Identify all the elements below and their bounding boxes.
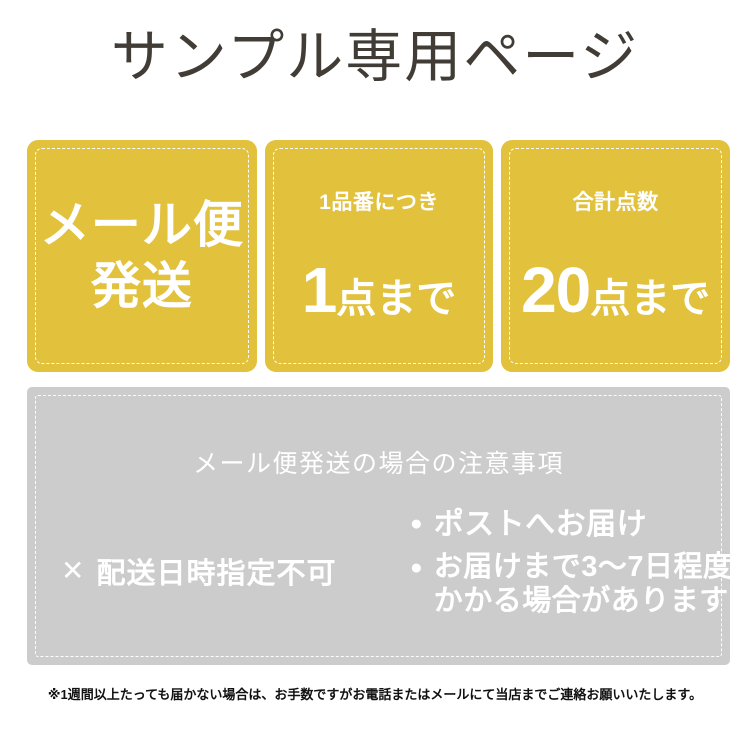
card-shipping-method-content: メール便 発送: [27, 140, 257, 372]
notice-bullet-item: ● ポストへお届け: [410, 507, 732, 542]
card-per-item-limit-figure: 1点まで: [265, 258, 494, 322]
card-per-item-limit-number: 1: [302, 254, 337, 326]
card-per-item-limit-caption: 1品番につき: [265, 186, 494, 216]
card-total-limit-content: 合計点数 20点まで: [501, 140, 730, 372]
footnote-text: ※1週間以上たっても届かない場合は、お手数ですがお電話またはメールにて当店までご…: [0, 684, 750, 703]
card-total-limit-figure: 20点まで: [501, 258, 730, 322]
notice-panel: メール便発送の場合の注意事項 ✕ 配送日時指定不可 ● ポストへお届け ●: [27, 387, 730, 665]
card-total-limit-number: 20: [521, 254, 590, 326]
notice-bullet-item: ● お届けまで3〜7日程度 かかる場合があります: [410, 551, 732, 619]
card-per-item-limit-unit: 点まで: [336, 277, 456, 321]
notice-bullet-text: お届けまで3〜7日程度 かかる場合があります: [434, 551, 733, 619]
notice-restriction-item: ✕ 配送日時指定不可: [61, 550, 336, 592]
card-shipping-method: メール便 発送: [27, 140, 257, 372]
notice-body: ✕ 配送日時指定不可 ● ポストへお届け ● お届けまで3〜7日程度 かかる場合…: [27, 507, 730, 647]
card-total-limit: 合計点数 20点まで: [501, 140, 730, 372]
x-mark-icon: ✕: [61, 557, 84, 585]
filled-circle-bullet-icon: ●: [410, 507, 423, 541]
notice-restriction-label: 配送日時指定不可: [96, 550, 336, 592]
feature-cards-row: メール便 発送 1品番につき 1点まで 合計点数 20点まで: [27, 140, 730, 372]
notice-bullet-text: ポストへお届け: [434, 507, 648, 542]
card-total-limit-unit: 点まで: [590, 277, 710, 321]
card-shipping-method-line1: メール便: [40, 195, 244, 257]
card-total-limit-caption: 合計点数: [501, 186, 730, 216]
filled-circle-bullet-icon: ●: [410, 551, 423, 585]
notice-heading: メール便発送の場合の注意事項: [27, 444, 730, 480]
notice-bullet-line1: ポストへお届け: [434, 508, 648, 541]
page-title: サンプル専用ページ: [0, 26, 750, 89]
card-shipping-method-line2: 発送: [91, 256, 193, 318]
sample-shipping-banner: サンプル専用ページ メール便 発送 1品番につき 1点まで 合計点数: [0, 0, 750, 750]
card-per-item-limit: 1品番につき 1点まで: [265, 140, 494, 372]
card-per-item-limit-content: 1品番につき 1点まで: [265, 140, 494, 372]
notice-bullet-line2: かかる場合があります: [434, 585, 733, 619]
notice-bullet-list: ● ポストへお届け ● お届けまで3〜7日程度 かかる場合があります: [410, 507, 732, 619]
notice-bullet-line1: お届けまで3〜7日程度: [434, 551, 733, 585]
